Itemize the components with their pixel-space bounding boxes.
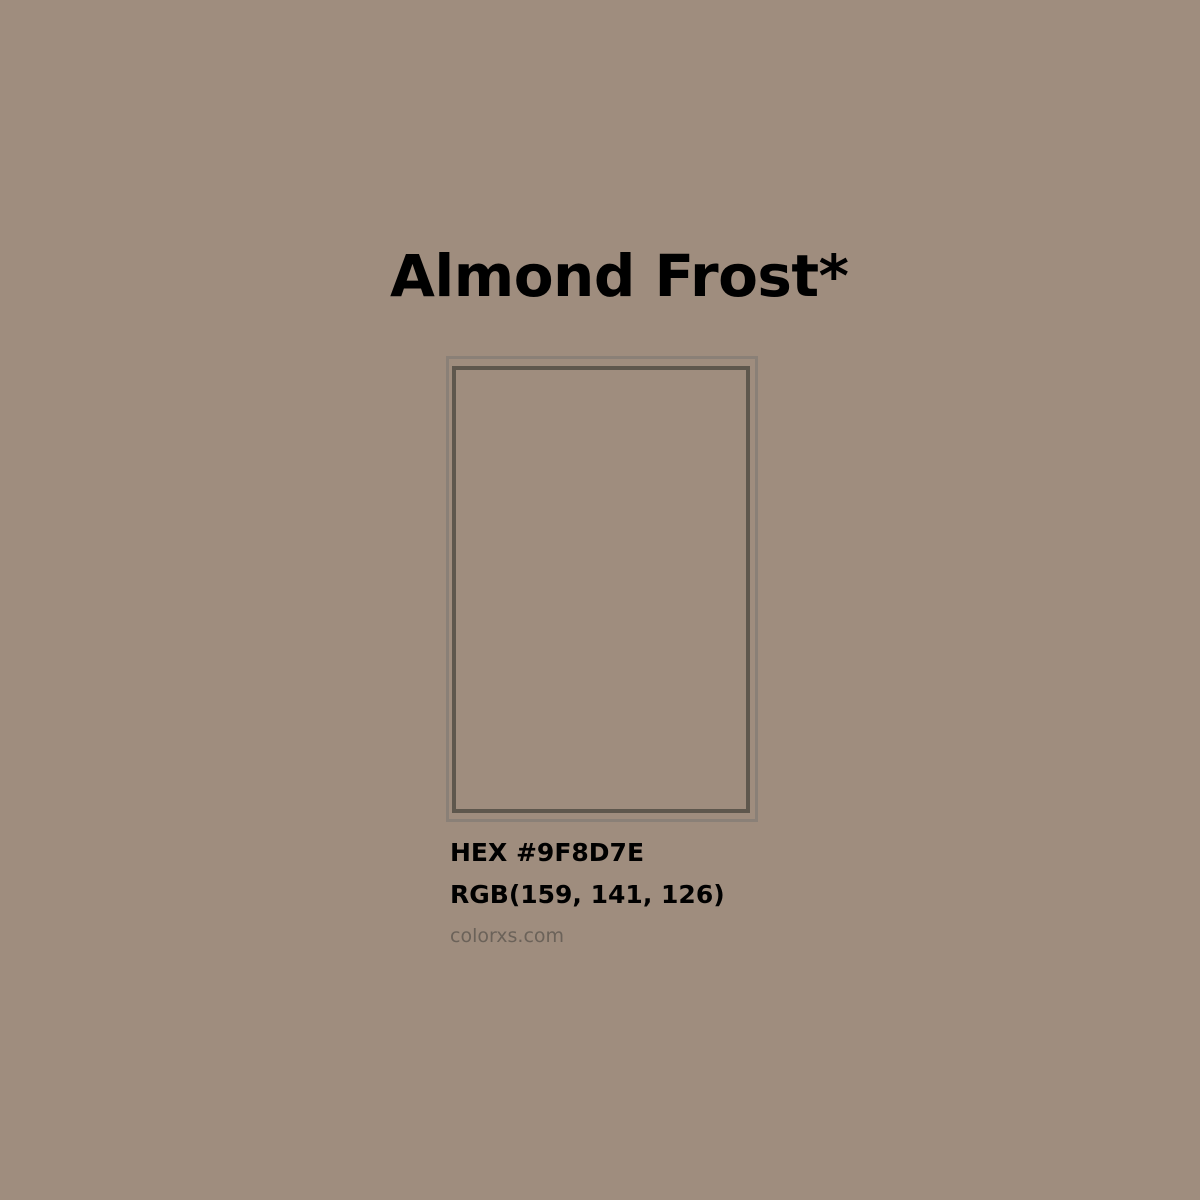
color-swatch-page: Almond Frost* HEX #9F8D7E RGB(159, 141, … <box>0 0 1200 1200</box>
site-watermark: colorxs.com <box>450 916 1050 956</box>
hex-value: HEX #9F8D7E <box>450 832 1050 874</box>
color-swatch <box>440 350 770 835</box>
swatch-fill <box>456 370 746 809</box>
color-values: HEX #9F8D7E RGB(159, 141, 126) colorxs.c… <box>450 832 1050 956</box>
rgb-value: RGB(159, 141, 126) <box>450 874 1050 916</box>
page-title: Almond Frost* <box>390 247 849 305</box>
